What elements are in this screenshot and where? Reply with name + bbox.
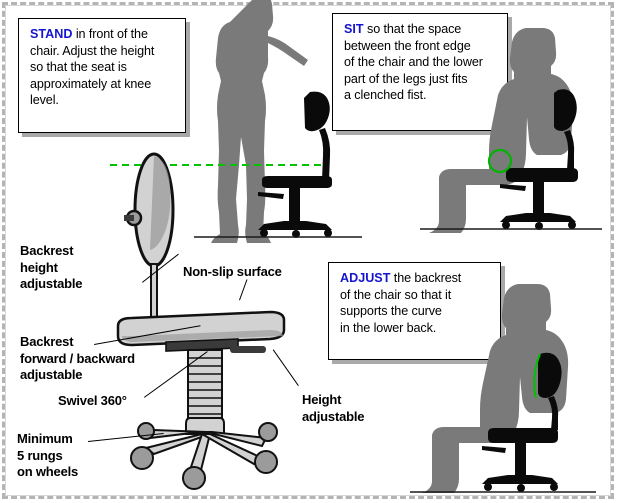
chair-backrest xyxy=(304,92,330,132)
callout-stand-keyword: STAND xyxy=(30,27,72,41)
chair-seat-lever-adjust xyxy=(482,446,506,453)
chair-base-sit xyxy=(500,213,576,222)
chair-seat-adjust xyxy=(488,428,558,443)
caster-wheel-4 xyxy=(259,423,277,441)
chair-base-adjust xyxy=(482,475,558,484)
poster-canvas: STAND in front of the chair. Adjust the … xyxy=(0,0,618,503)
callout-stand: STAND in front of the chair. Adjust the … xyxy=(18,18,186,133)
chair-caster-mid-adjust xyxy=(517,484,525,492)
chair-caster-right-adjust xyxy=(550,483,558,491)
seated-person-silhouette xyxy=(429,28,573,233)
illustration-labelled-chair xyxy=(110,150,325,490)
chair-backrest-sit xyxy=(554,89,577,131)
height-lever xyxy=(230,346,266,353)
chair-caster-left-sit xyxy=(502,221,510,229)
backrest-knob-stem xyxy=(124,215,134,221)
chair-caster-left-adjust xyxy=(484,483,492,491)
callout-stand-line-3: approximately at knee xyxy=(30,76,176,93)
illustration-seated-person-lumbar xyxy=(436,268,608,494)
callout-adjust-keyword: ADJUST xyxy=(340,271,390,285)
label-height-adjustable: Height adjustable xyxy=(302,392,364,425)
chair-seat-lever-sit xyxy=(500,184,526,191)
label-swivel-360: Swivel 360° xyxy=(58,393,127,410)
callout-stand-line-0: STAND in front of the xyxy=(30,26,176,43)
caster-wheel-3 xyxy=(255,451,277,473)
chair-five-star-base xyxy=(131,418,277,489)
label-non-slip-surface: Non-slip surface xyxy=(183,264,282,281)
chair-caster-right-sit xyxy=(568,221,576,229)
caster-wheel-5 xyxy=(138,423,154,439)
callout-stand-text-0: in front of the xyxy=(72,27,147,41)
callout-stand-line-1: chair. Adjust the height xyxy=(30,43,176,60)
callout-stand-line-2: so that the seat is xyxy=(30,59,176,76)
chair-seat-sit xyxy=(506,168,578,182)
caster-wheel-1 xyxy=(131,447,153,469)
callout-stand-line-4: level. xyxy=(30,92,176,109)
caster-wheel-2 xyxy=(183,467,205,489)
label-backrest-forward-backward-adjustable: Backrest forward / backward adjustable xyxy=(20,334,135,384)
illustration-seated-person-fist xyxy=(440,16,606,236)
chair-caster-right xyxy=(324,229,332,237)
label-minimum-5-rungs-on-wheels: Minimum 5 rungs on wheels xyxy=(17,431,78,481)
label-backrest-height-adjustable: Backrest height adjustable xyxy=(20,243,82,293)
